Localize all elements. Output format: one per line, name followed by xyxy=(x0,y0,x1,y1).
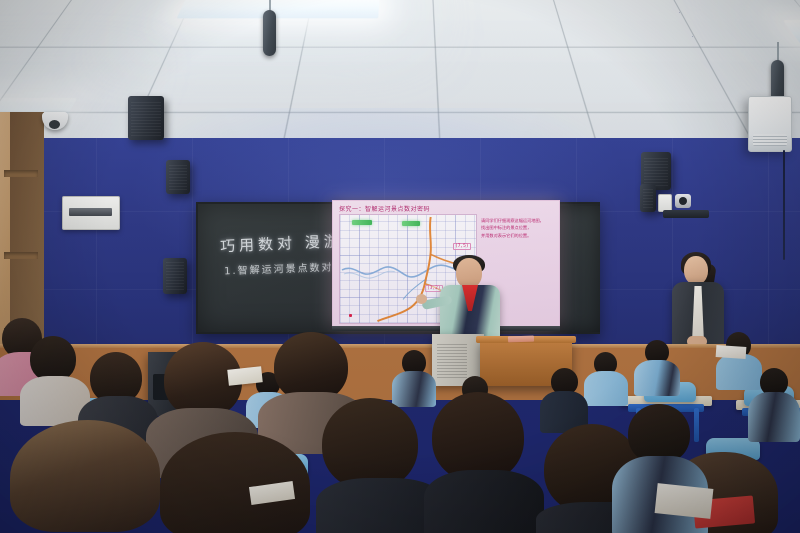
slide-note: 请同学们仔细观察这幅运河地图， 找出图中标注的景点位置， 并用数对表示它们的位置… xyxy=(481,217,555,239)
student xyxy=(634,340,680,394)
classroom-scene: 巧用数对 漫游运河 1.智解运河景点数对密码 探究一：智解运河景点数对密码 xyxy=(0,0,800,533)
shelf-board xyxy=(4,252,38,259)
observer-body xyxy=(424,470,544,533)
student-head xyxy=(628,404,690,464)
paper-sheet xyxy=(716,345,747,359)
hanging-speaker xyxy=(263,10,276,56)
presenter-head xyxy=(456,258,482,288)
chalk-writing-area: 巧用数对 漫游运河 1.智解运河景点数对密码 xyxy=(198,204,350,336)
student xyxy=(584,352,628,404)
student-uniform xyxy=(748,392,800,442)
student xyxy=(540,368,588,430)
wall-cable xyxy=(783,150,785,260)
slide-title: 探究一：智解运河景点数对密码 xyxy=(339,204,430,213)
observer-head xyxy=(10,420,160,532)
paper-sheet xyxy=(655,483,714,519)
observer xyxy=(160,432,340,533)
ceiling-light xyxy=(177,0,380,18)
wall-speaker xyxy=(128,96,164,140)
presenter-hand xyxy=(416,294,427,304)
slide-note-line: 找出图中标注的景点位置， xyxy=(481,224,555,231)
blackboard-right-wing xyxy=(560,206,600,332)
student-presenter xyxy=(438,258,504,346)
teacher-head xyxy=(684,256,708,285)
shelf-board xyxy=(4,170,38,177)
student-uniform xyxy=(634,360,680,396)
observer xyxy=(424,392,544,533)
map-origin-marker xyxy=(349,314,352,317)
slide-note-line: 并用数对表示它们的位置。 xyxy=(481,232,555,239)
camera-mount-shelf xyxy=(663,210,709,218)
speaker-cable xyxy=(777,42,779,62)
observer-head xyxy=(322,398,418,490)
lectern-booklet xyxy=(508,336,534,343)
ptz-camera-icon xyxy=(675,194,691,208)
slide-note-line: 请同学们仔细观察这幅运河地图， xyxy=(481,217,555,224)
ac-unit xyxy=(748,96,792,152)
wall-speaker xyxy=(166,160,190,194)
student xyxy=(748,368,800,440)
wall-speaker xyxy=(640,184,656,212)
control-panel xyxy=(62,196,120,230)
student-uniform xyxy=(584,371,628,406)
coordinate-label: (7,5) xyxy=(453,243,471,250)
observer-head xyxy=(432,392,524,482)
wall-speaker xyxy=(163,258,187,294)
